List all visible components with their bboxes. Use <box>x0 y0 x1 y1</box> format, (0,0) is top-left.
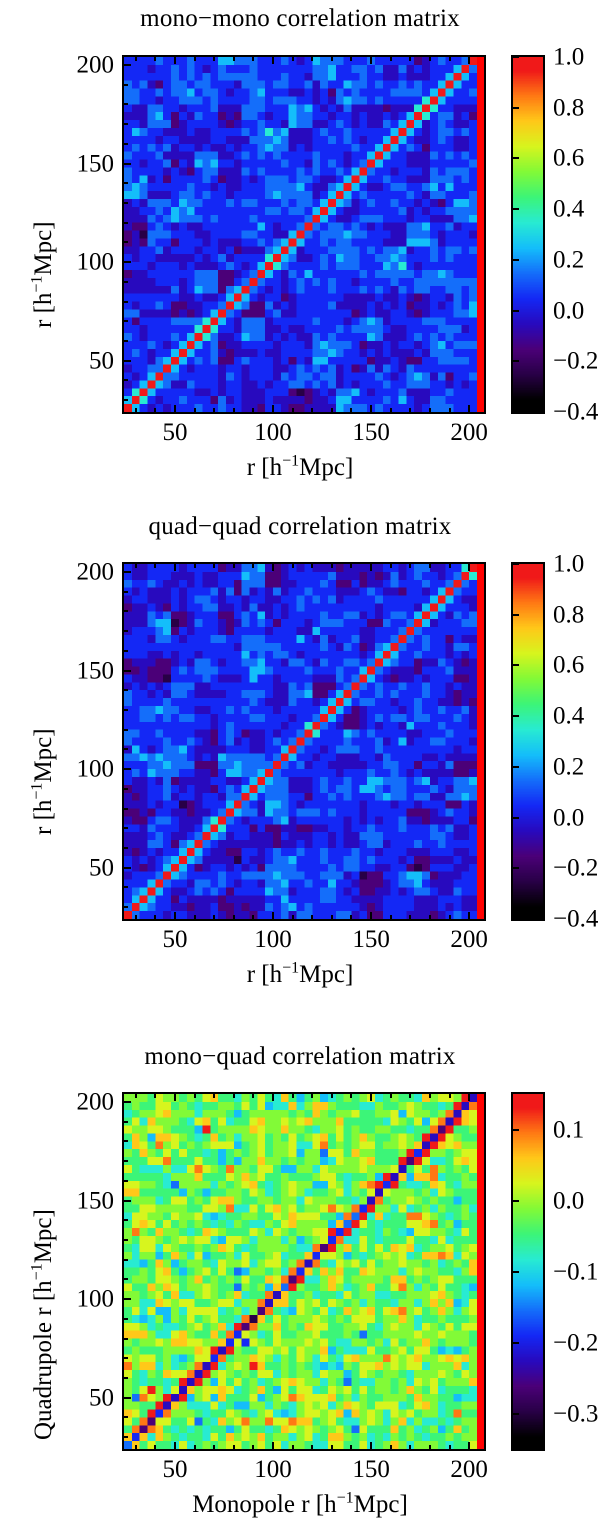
x-tick-major-top <box>174 564 176 571</box>
heatmap-canvas <box>124 564 477 919</box>
x-tick-minor-top <box>449 57 451 61</box>
heatmap-mono-quad <box>122 1092 479 1451</box>
x-tick-minor <box>331 408 333 412</box>
y-tick-minor <box>124 650 128 652</box>
panel-title-quad-quad: quad−quad correlation matrix <box>0 512 600 542</box>
y-tick-minor <box>124 709 128 711</box>
y-tick-major <box>124 867 131 869</box>
x-tick-major-top <box>370 1094 372 1101</box>
x-tick-minor <box>154 1445 156 1449</box>
x-tick-minor <box>311 1445 313 1449</box>
x-tick-minor-top <box>252 564 254 568</box>
y-tick-label: 200 <box>56 1089 114 1114</box>
x-tick-minor <box>213 915 215 919</box>
x-tick-label: 150 <box>352 420 390 445</box>
x-tick-minor <box>331 915 333 919</box>
x-tick-major-top <box>370 57 372 64</box>
x-tick-label: 100 <box>254 927 292 952</box>
colorbar-tick <box>513 563 519 565</box>
colorbar-tick-label: 0.6 <box>553 653 584 678</box>
y-axis-title: Quadrupole r [h−1Mpc] <box>30 1209 58 1440</box>
x-tick-minor-top <box>292 1094 294 1098</box>
y-tick-label: 150 <box>56 658 114 683</box>
y-tick-major <box>124 1200 131 1202</box>
x-tick-minor-top <box>213 1094 215 1098</box>
y-tick-minor <box>124 320 128 322</box>
y-tick-label: 150 <box>56 1188 114 1213</box>
colorbar-tick <box>513 715 519 717</box>
x-tick-minor <box>154 408 156 412</box>
x-tick-minor-top <box>311 1094 313 1098</box>
colorbar-tick-label: −0.2 <box>553 349 598 374</box>
y-tick-major <box>124 571 131 573</box>
y-tick-minor <box>124 1278 128 1280</box>
colorbar-tick-label: 0.4 <box>553 197 584 222</box>
y-tick-label: 50 <box>56 1385 114 1410</box>
x-tick-minor <box>233 408 235 412</box>
x-tick-major-top <box>272 564 274 571</box>
heatmap-canvas <box>124 1094 477 1449</box>
y-tick-minor <box>124 906 128 908</box>
y-tick-label: 200 <box>56 52 114 77</box>
x-tick-major <box>370 405 372 412</box>
panel-mono-mono: mono−mono correlation matrix r [h−1Mpc] … <box>0 0 600 500</box>
y-tick-minor <box>124 1219 128 1221</box>
x-tick-minor-top <box>154 57 156 61</box>
y-tick-major <box>124 1101 131 1103</box>
y-tick-minor <box>124 689 128 691</box>
x-tick-minor-top <box>449 564 451 568</box>
x-tick-minor-top <box>194 564 196 568</box>
panel-mono-quad: mono−quad correlation matrix Monopole r … <box>0 1020 600 1539</box>
x-tick-minor-top <box>233 1094 235 1098</box>
colorbar-tick <box>513 614 519 616</box>
colorbar-tick <box>513 56 519 58</box>
y-tick-minor <box>124 301 128 303</box>
colorbar-tick <box>513 107 519 109</box>
x-tick-minor-top <box>429 564 431 568</box>
y-tick-minor <box>124 630 128 632</box>
colorbar-tick <box>513 360 519 362</box>
x-tick-minor-top <box>213 57 215 61</box>
x-tick-minor-top <box>331 564 333 568</box>
x-tick-major <box>272 912 274 919</box>
x-tick-minor <box>311 408 313 412</box>
x-tick-major-top <box>370 564 372 571</box>
x-axis-title: Monopole r [h−1Mpc] <box>0 1491 600 1519</box>
y-tick-minor <box>124 143 128 145</box>
x-axis-title: r [h−1Mpc] <box>0 961 600 989</box>
x-tick-label: 50 <box>162 420 187 445</box>
colorbar-tick <box>513 867 519 869</box>
y-tick-major <box>124 670 131 672</box>
y-tick-minor <box>124 1416 128 1418</box>
y-tick-minor <box>124 1140 128 1142</box>
x-tick-major <box>468 405 470 412</box>
x-tick-minor <box>252 408 254 412</box>
y-tick-label: 100 <box>56 757 114 782</box>
colorbar-tick <box>513 766 519 768</box>
colorbar-tick <box>513 1342 519 1344</box>
y-tick-major <box>124 360 131 362</box>
x-tick-minor <box>449 1445 451 1449</box>
y-tick-minor <box>124 748 128 750</box>
heatmap-edge-stripe <box>477 562 486 921</box>
x-tick-label: 150 <box>352 1457 390 1482</box>
heatmap-edge-stripe <box>477 55 486 414</box>
panel-quad-quad: quad−quad correlation matrix r [h−1Mpc] … <box>0 504 600 1016</box>
x-tick-minor-top <box>409 57 411 61</box>
colorbar-tick-label: 0.2 <box>553 247 584 272</box>
x-tick-minor <box>194 1445 196 1449</box>
x-tick-minor <box>429 1445 431 1449</box>
x-tick-minor-top <box>194 1094 196 1098</box>
y-tick-major <box>124 163 131 165</box>
y-tick-minor <box>124 729 128 731</box>
x-tick-minor-top <box>390 57 392 61</box>
colorbar-tick <box>513 208 519 210</box>
colorbar-tick-label: 0.0 <box>553 1188 584 1213</box>
x-tick-minor-top <box>233 564 235 568</box>
colorbar-tick-label: −0.3 <box>553 1401 598 1426</box>
x-tick-minor <box>409 1445 411 1449</box>
y-tick-minor <box>124 591 128 593</box>
colorbar-tick <box>513 310 519 312</box>
y-tick-minor <box>124 827 128 829</box>
y-tick-minor <box>124 1338 128 1340</box>
y-tick-minor <box>124 788 128 790</box>
x-tick-minor-top <box>350 564 352 568</box>
x-tick-minor <box>292 408 294 412</box>
y-tick-minor <box>124 1318 128 1320</box>
x-tick-minor <box>409 408 411 412</box>
x-tick-label: 50 <box>162 1457 187 1482</box>
x-tick-major-top <box>272 57 274 64</box>
x-tick-minor <box>194 408 196 412</box>
panel-title-mono-quad: mono−quad correlation matrix <box>0 1042 600 1072</box>
x-tick-minor <box>390 408 392 412</box>
panel-title-mono-mono: mono−mono correlation matrix <box>0 4 600 34</box>
x-tick-minor <box>350 408 352 412</box>
x-tick-minor <box>233 1445 235 1449</box>
x-tick-minor <box>292 1445 294 1449</box>
x-tick-minor <box>194 915 196 919</box>
x-tick-minor-top <box>331 57 333 61</box>
colorbar-tick-label: 0.0 <box>553 805 584 830</box>
y-tick-minor <box>124 222 128 224</box>
x-tick-minor-top <box>390 564 392 568</box>
x-tick-minor-top <box>154 564 156 568</box>
x-tick-minor <box>213 408 215 412</box>
colorbar-tick-label: 1.0 <box>553 552 584 577</box>
x-tick-minor-top <box>429 57 431 61</box>
x-tick-label: 100 <box>254 420 292 445</box>
y-tick-minor <box>124 182 128 184</box>
x-tick-minor-top <box>135 1094 137 1098</box>
y-tick-label: 50 <box>56 348 114 373</box>
colorbar-tick <box>513 664 519 666</box>
x-tick-minor <box>350 1445 352 1449</box>
colorbar-tick-label: 0.2 <box>553 754 584 779</box>
y-tick-minor <box>124 241 128 243</box>
colorbar-tick <box>513 1271 519 1273</box>
x-tick-minor <box>233 915 235 919</box>
heatmap-mono-mono <box>122 55 479 414</box>
colorbar-tick-label: −0.4 <box>553 400 598 425</box>
y-tick-minor <box>124 1239 128 1241</box>
x-tick-minor-top <box>350 57 352 61</box>
colorbar-tick <box>513 1413 519 1415</box>
colorbar-tick <box>513 1200 519 1202</box>
y-tick-minor <box>124 1160 128 1162</box>
x-tick-minor <box>409 915 411 919</box>
colorbar-canvas <box>513 564 543 919</box>
y-tick-minor <box>124 399 128 401</box>
colorbar-tick <box>513 259 519 261</box>
colorbar-tick <box>513 817 519 819</box>
y-tick-major <box>124 261 131 263</box>
y-tick-major <box>124 768 131 770</box>
x-tick-minor <box>429 408 431 412</box>
x-tick-minor <box>350 915 352 919</box>
colorbar-tick-label: 0.8 <box>553 602 584 627</box>
x-tick-minor <box>331 1445 333 1449</box>
x-tick-minor-top <box>135 57 137 61</box>
colorbar-tick <box>513 918 519 920</box>
y-tick-minor <box>124 610 128 612</box>
y-tick-major <box>124 1397 131 1399</box>
x-tick-minor-top <box>135 564 137 568</box>
x-tick-major-top <box>468 564 470 571</box>
x-tick-minor-top <box>233 57 235 61</box>
x-tick-minor <box>135 915 137 919</box>
x-tick-major <box>370 1442 372 1449</box>
x-tick-minor-top <box>449 1094 451 1098</box>
y-tick-minor <box>124 84 128 86</box>
x-tick-label: 150 <box>352 927 390 952</box>
colorbar-tick-label: −0.2 <box>553 1330 598 1355</box>
x-tick-label: 200 <box>450 927 488 952</box>
x-tick-major <box>174 912 176 919</box>
x-tick-label: 100 <box>254 1457 292 1482</box>
x-tick-major-top <box>468 57 470 64</box>
y-tick-minor <box>124 1180 128 1182</box>
x-tick-minor <box>449 408 451 412</box>
colorbar-tick-label: 0.0 <box>553 298 584 323</box>
y-tick-minor <box>124 1377 128 1379</box>
x-tick-major <box>272 405 274 412</box>
y-tick-minor <box>124 281 128 283</box>
colorbar-tick-label: −0.2 <box>553 856 598 881</box>
x-tick-minor-top <box>311 57 313 61</box>
x-tick-label: 50 <box>162 927 187 952</box>
x-tick-minor-top <box>311 564 313 568</box>
x-tick-minor <box>154 915 156 919</box>
x-tick-minor-top <box>429 1094 431 1098</box>
y-axis-title: r [h−1Mpc] <box>30 728 58 835</box>
x-tick-label: 200 <box>450 1457 488 1482</box>
x-tick-minor <box>390 1445 392 1449</box>
y-tick-minor <box>124 1259 128 1261</box>
x-tick-minor <box>429 915 431 919</box>
x-tick-minor <box>292 915 294 919</box>
x-tick-label: 200 <box>450 420 488 445</box>
colorbar-tick <box>513 1129 519 1131</box>
x-tick-minor <box>213 1445 215 1449</box>
x-tick-minor-top <box>292 564 294 568</box>
x-tick-major <box>174 1442 176 1449</box>
x-tick-major <box>272 1442 274 1449</box>
x-tick-minor <box>449 915 451 919</box>
x-tick-major-top <box>174 1094 176 1101</box>
x-tick-major-top <box>174 57 176 64</box>
y-tick-minor <box>124 847 128 849</box>
y-tick-label: 50 <box>56 855 114 880</box>
y-tick-label: 150 <box>56 151 114 176</box>
colorbar-tick <box>513 411 519 413</box>
y-tick-label: 200 <box>56 559 114 584</box>
x-tick-minor <box>135 408 137 412</box>
heatmap-quad-quad <box>122 562 479 921</box>
y-tick-label: 100 <box>56 250 114 275</box>
x-tick-minor-top <box>292 57 294 61</box>
x-tick-minor <box>252 915 254 919</box>
y-tick-minor <box>124 379 128 381</box>
x-tick-minor-top <box>409 1094 411 1098</box>
x-tick-minor-top <box>331 1094 333 1098</box>
y-tick-label: 100 <box>56 1287 114 1312</box>
colorbar-tick-label: 0.4 <box>553 704 584 729</box>
x-tick-major <box>370 912 372 919</box>
y-axis-title: r [h−1Mpc] <box>30 221 58 328</box>
x-tick-major-top <box>272 1094 274 1101</box>
y-tick-major <box>124 64 131 66</box>
heatmap-canvas <box>124 57 477 412</box>
x-tick-minor-top <box>213 564 215 568</box>
y-tick-minor <box>124 103 128 105</box>
colorbar-tick-label: 0.8 <box>553 95 584 120</box>
x-tick-major <box>468 912 470 919</box>
x-tick-minor-top <box>252 1094 254 1098</box>
x-tick-major-top <box>468 1094 470 1101</box>
x-tick-minor-top <box>154 1094 156 1098</box>
y-tick-minor <box>124 1121 128 1123</box>
y-tick-minor <box>124 886 128 888</box>
y-tick-minor <box>124 123 128 125</box>
x-tick-minor-top <box>409 564 411 568</box>
y-tick-minor <box>124 1357 128 1359</box>
x-tick-minor <box>252 1445 254 1449</box>
x-tick-minor-top <box>252 57 254 61</box>
y-tick-minor <box>124 1436 128 1438</box>
x-tick-major <box>468 1442 470 1449</box>
x-tick-minor-top <box>194 57 196 61</box>
x-tick-major <box>174 405 176 412</box>
colorbar-canvas <box>513 57 543 412</box>
heatmap-edge-stripe <box>477 1092 486 1451</box>
y-tick-minor <box>124 340 128 342</box>
colorbar-tick-label: −0.1 <box>553 1259 598 1284</box>
x-tick-minor <box>135 1445 137 1449</box>
x-tick-minor <box>390 915 392 919</box>
y-tick-minor <box>124 808 128 810</box>
x-axis-title: r [h−1Mpc] <box>0 454 600 482</box>
y-tick-major <box>124 1298 131 1300</box>
colorbar-tick <box>513 157 519 159</box>
y-tick-minor <box>124 202 128 204</box>
x-tick-minor-top <box>390 1094 392 1098</box>
colorbar-tick-label: 0.6 <box>553 146 584 171</box>
x-tick-minor-top <box>350 1094 352 1098</box>
colorbar-tick-label: −0.4 <box>553 907 598 932</box>
x-tick-minor <box>311 915 313 919</box>
colorbar-tick-label: 0.1 <box>553 1117 584 1142</box>
colorbar-tick-label: 1.0 <box>553 45 584 70</box>
